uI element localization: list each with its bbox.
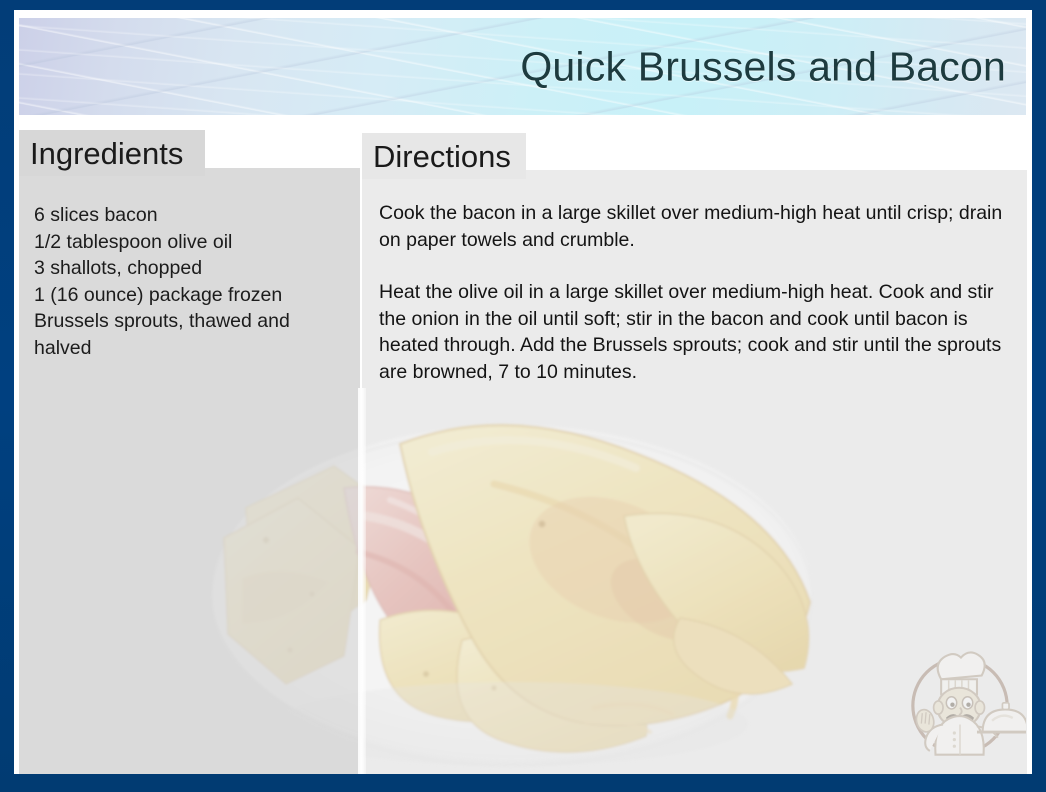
list-item: 1 (16 ounce) package frozen Brussels spr… <box>34 282 344 362</box>
recipe-slide: Quick Brussels and Bacon Ingredients Dir… <box>0 0 1046 792</box>
slide-canvas: Quick Brussels and Bacon Ingredients Dir… <box>14 10 1032 774</box>
ingredients-list: 6 slices bacon 1/2 tablespoon olive oil … <box>19 168 360 361</box>
ingredients-panel: 6 slices bacon 1/2 tablespoon olive oil … <box>19 168 360 774</box>
list-item: 1/2 tablespoon olive oil <box>34 229 344 256</box>
directions-paragraph: Heat the olive oil in a large skillet ov… <box>379 279 1011 385</box>
page-title: Quick Brussels and Bacon <box>520 43 1006 90</box>
title-banner: Quick Brussels and Bacon <box>19 18 1026 115</box>
list-item: 3 shallots, chopped <box>34 255 344 282</box>
ingredients-heading: Ingredients <box>19 130 205 176</box>
directions-paragraph: Cook the bacon in a large skillet over m… <box>379 200 1011 253</box>
list-item: 6 slices bacon <box>34 202 344 229</box>
directions-heading: Directions <box>362 133 526 179</box>
directions-panel: Cook the bacon in a large skillet over m… <box>362 170 1027 774</box>
directions-text: Cook the bacon in a large skillet over m… <box>362 170 1027 385</box>
